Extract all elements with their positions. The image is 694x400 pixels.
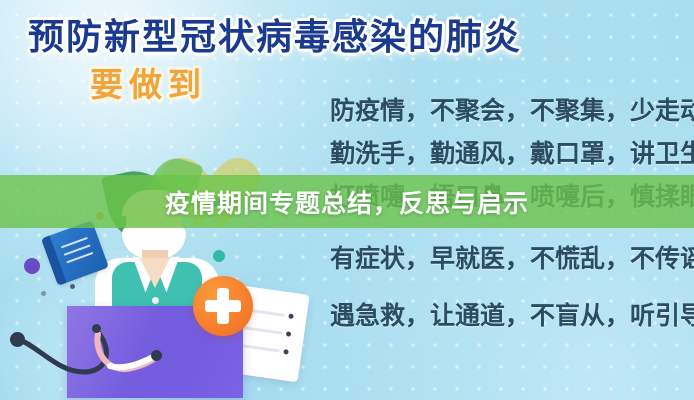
stethoscope-earpiece (151, 350, 162, 361)
overlay-banner-title: 疫情期间专题总结，反思与启示 (0, 175, 694, 228)
poster-subheadline: 要做到 (90, 58, 207, 106)
doctor-button (152, 297, 159, 304)
medical-cross-icon (193, 276, 253, 336)
slogan-line: 勤洗手，勤通风，戴口罩，讲卫生； (330, 142, 694, 167)
slogan-line: 遇急救，让通道，不盲从，听引导。 (330, 304, 694, 329)
decor-dot-purple (24, 258, 40, 274)
decor-dot-teal (213, 250, 225, 262)
notebook-spine (41, 236, 67, 286)
decor-dot-small (70, 284, 75, 289)
document-bullet (283, 349, 289, 355)
poster-image: 预防新型冠状病毒感染的肺炎 要做到 防疫情，不聚会，不聚集，少走动； 勤洗手，勤… (0, 0, 694, 400)
document-bullet (286, 331, 292, 337)
cross-horizontal-bar (205, 300, 241, 312)
stethoscope-bell (10, 332, 25, 347)
slogan-line: 防疫情，不聚会，不聚集，少走动； (330, 99, 694, 124)
stethoscope-icon (6, 318, 186, 388)
poster-headline: 预防新型冠状病毒感染的肺炎 (28, 8, 522, 60)
decor-dot-small (41, 291, 46, 296)
slogan-line: 有症状，早就医，不慌乱，不传谣； (330, 247, 694, 272)
document-bullet (288, 313, 294, 319)
stethoscope-earpiece (92, 324, 101, 333)
